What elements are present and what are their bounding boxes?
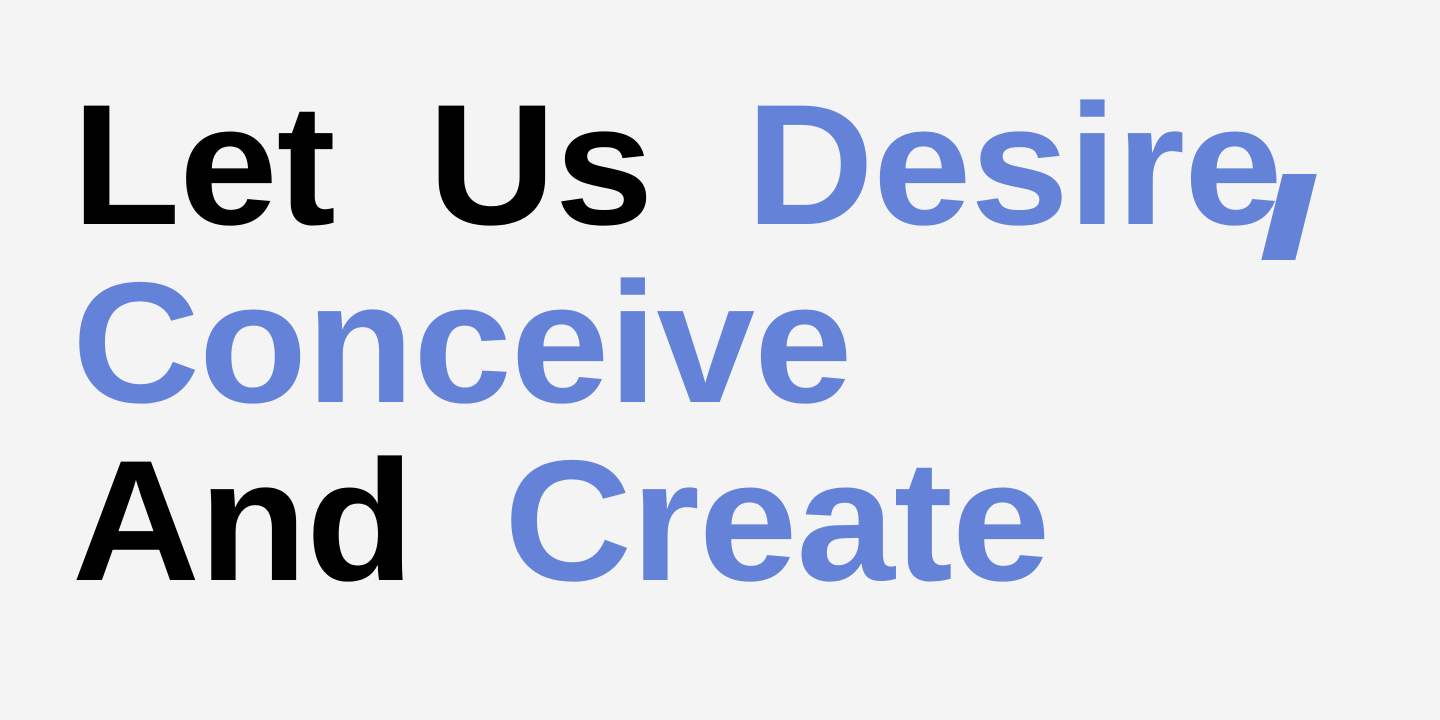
type-specimen-canvas: Let Us Desire Conceive And Create	[0, 0, 1440, 720]
headline-block: Let Us Desire Conceive And Create	[72, 74, 1372, 608]
headline-word-create: Create	[504, 432, 1049, 610]
headline-word-desire: Desire	[746, 76, 1282, 254]
headline-word-let: Let	[72, 76, 335, 254]
headline-line-1: Let Us Desire	[72, 74, 1372, 252]
headline-line-3: And Create	[72, 430, 1372, 608]
headline-word-us: Us	[428, 76, 652, 254]
headline-word-and: And	[72, 432, 413, 610]
headline-word-conceive: Conceive	[72, 254, 851, 432]
headline-line-2: Conceive	[72, 252, 1372, 430]
